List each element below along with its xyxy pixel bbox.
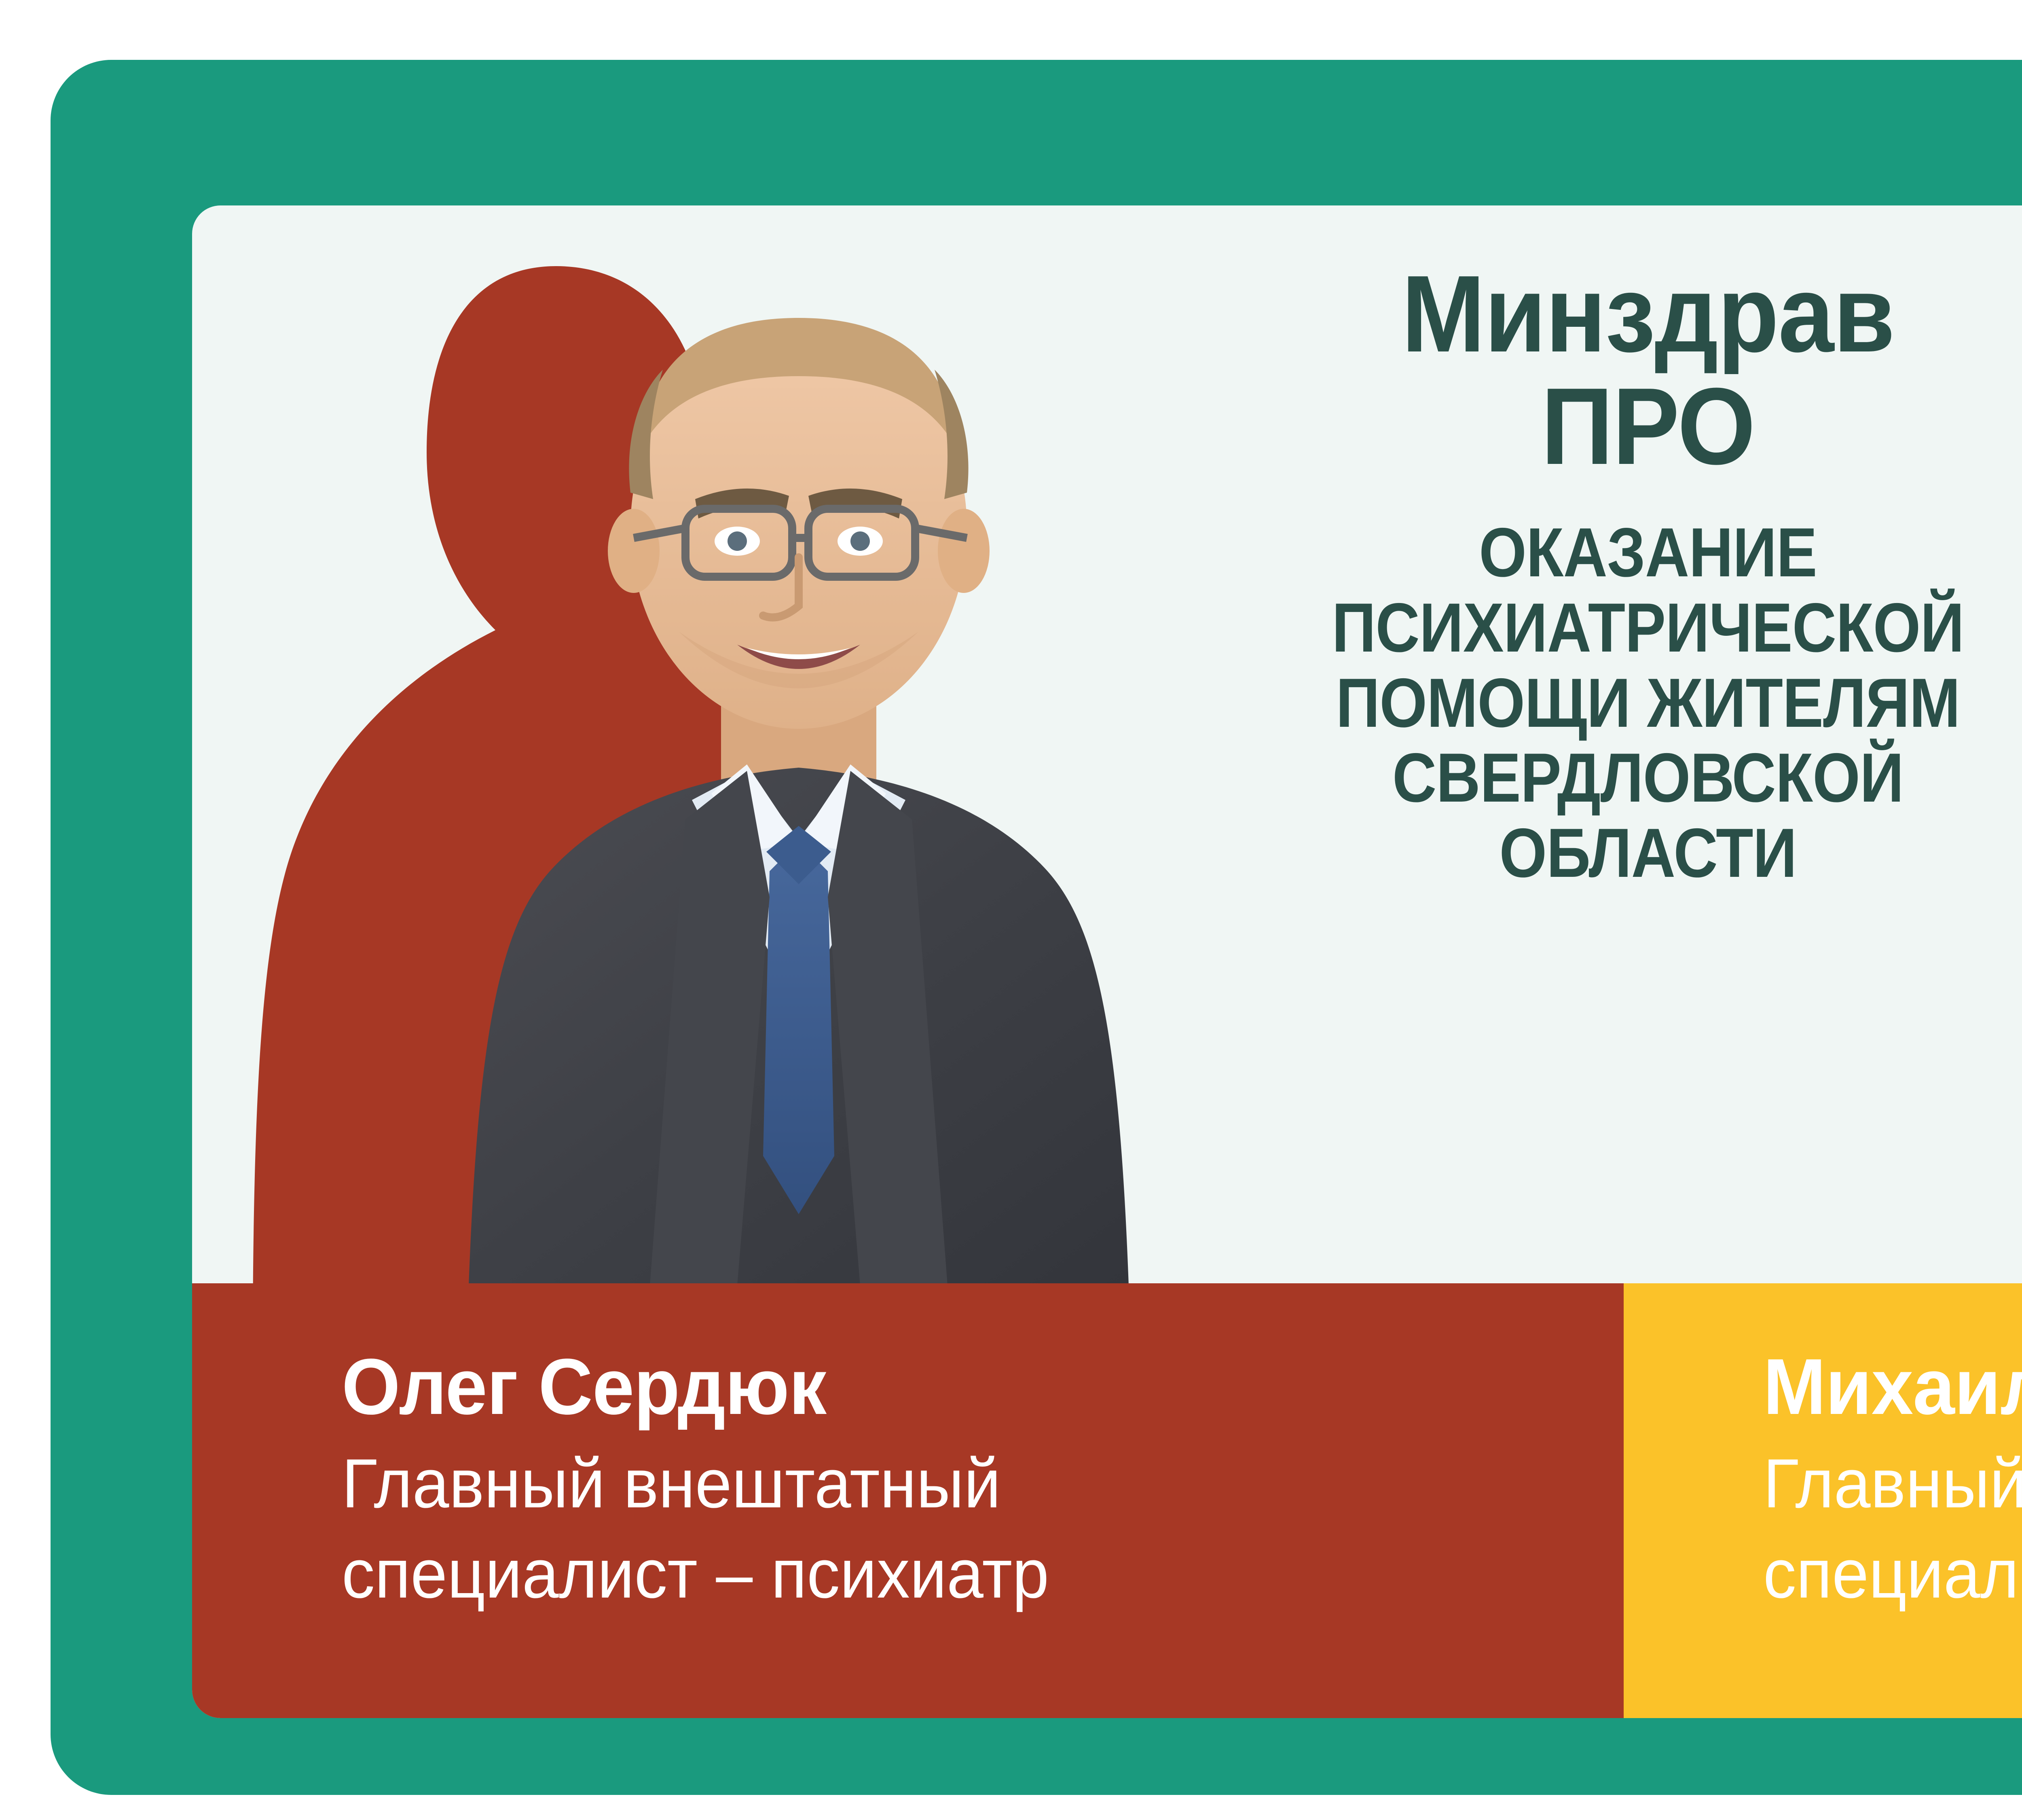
speaker-role-right: Главный внештатный специалист – психотер…	[1763, 1439, 2022, 1619]
speaker-name-left: Олег Сердюк	[342, 1344, 1560, 1430]
speaker-plate-left: Олег Сердюк Главный внештатный специалис…	[192, 1283, 1624, 1718]
speaker-plate-right: Михаил Перцель Главный внештатный специа…	[1624, 1283, 2022, 1718]
poster-frame: Минздрав ПРО ОКАЗАНИЕ ПСИХИАТРИЧЕСКОЙ ПО…	[51, 60, 2022, 1795]
speaker-role-left: Главный внештатный специалист – психиатр	[342, 1439, 1560, 1619]
poster-inner-panel: Минздрав ПРО ОКАЗАНИЕ ПСИХИАТРИЧЕСКОЙ ПО…	[192, 205, 2022, 1718]
page-subtitle: ОКАЗАНИЕ ПСИХИАТРИЧЕСКОЙ ПОМОЩИ ЖИТЕЛЯМ …	[1168, 515, 2022, 891]
title-block: Минздрав ПРО ОКАЗАНИЕ ПСИХИАТРИЧЕСКОЙ ПО…	[1102, 205, 2022, 891]
page-title: Минздрав ПРО	[1146, 258, 2022, 483]
speaker-name-right: Михаил Перцель	[1763, 1344, 2022, 1430]
